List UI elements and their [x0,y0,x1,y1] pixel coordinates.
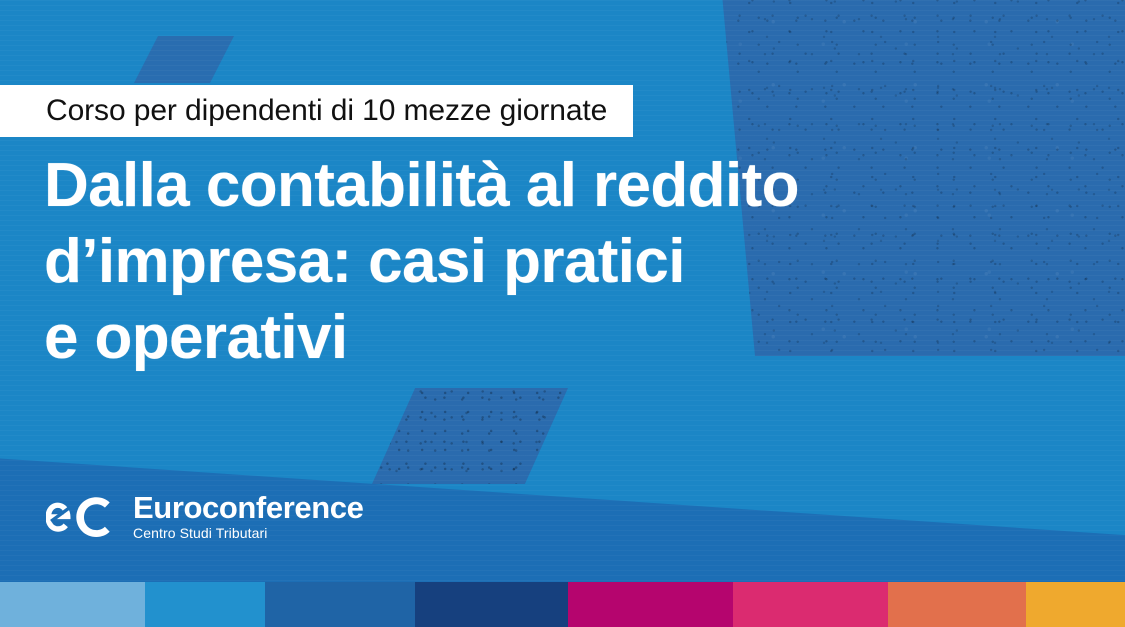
course-promo-banner: Corso per dipendenti di 10 mezze giornat… [0,0,1125,627]
kicker-banner: Corso per dipendenti di 10 mezze giornat… [0,85,633,137]
logo-tagline: Centro Studi Tributari [133,525,363,541]
brand-color-strip [0,582,1125,627]
color-strip-segment-magenta [568,582,733,627]
title-line-3: e operativi [44,300,799,376]
color-strip-segment-sky-blue [145,582,265,627]
logo-wordmark: Euroconference Centro Studi Tributari [133,492,363,541]
color-strip-segment-amber [1026,582,1125,627]
color-strip-segment-light-blue [0,582,145,627]
title-line-2: d’impresa: casi pratici [44,224,799,300]
logo-brand-name: Euroconference [133,492,363,524]
kicker-label: Corso per dipendenti di 10 mezze giornat… [46,96,607,126]
color-strip-segment-orange [888,582,1026,627]
color-strip-segment-navy-blue [415,582,568,627]
color-strip-segment-mid-blue [265,582,415,627]
color-strip-segment-pink [733,582,888,627]
euroconference-logo: Euroconference Centro Studi Tributari [46,492,363,541]
ec-monogram-icon [46,493,120,541]
page-title: Dalla contabilità al reddito d’impresa: … [44,148,799,376]
title-line-1: Dalla contabilità al reddito [44,148,799,224]
